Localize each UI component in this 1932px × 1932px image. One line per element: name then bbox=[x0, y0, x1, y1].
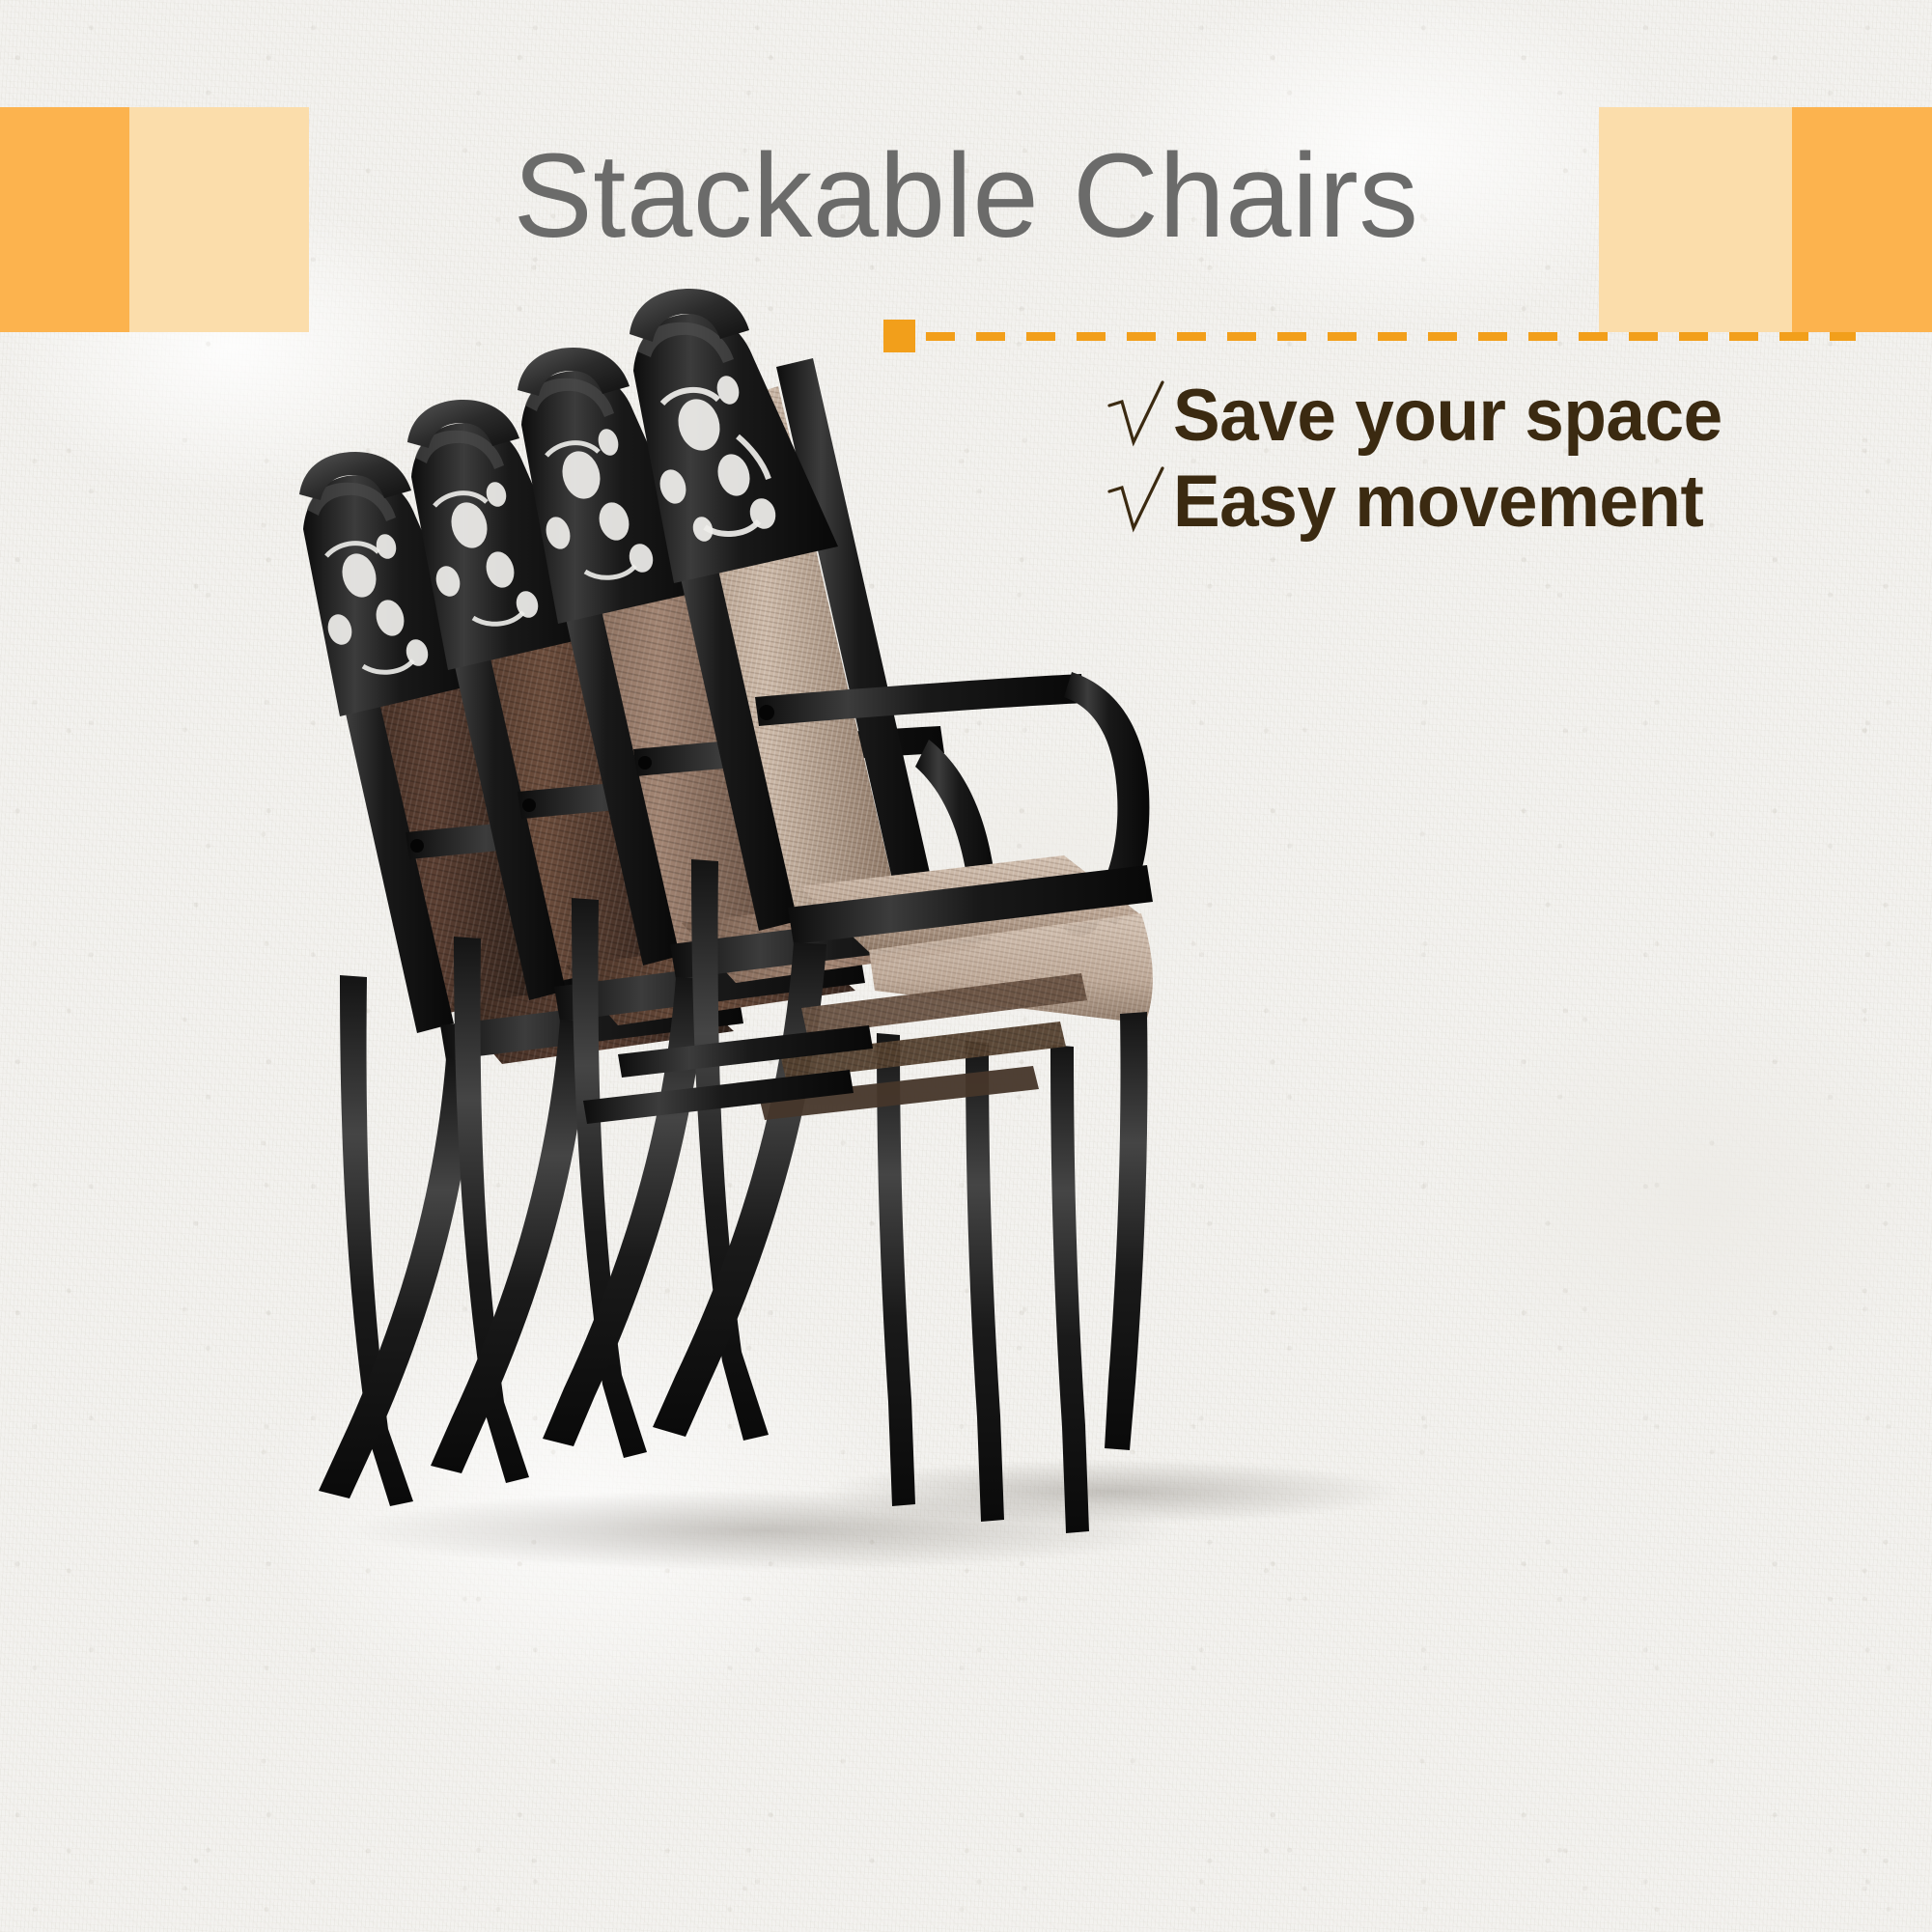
stacked-patio-chairs-image bbox=[0, 0, 1932, 1932]
chair-rear-legs-cluster bbox=[877, 1033, 1089, 1533]
